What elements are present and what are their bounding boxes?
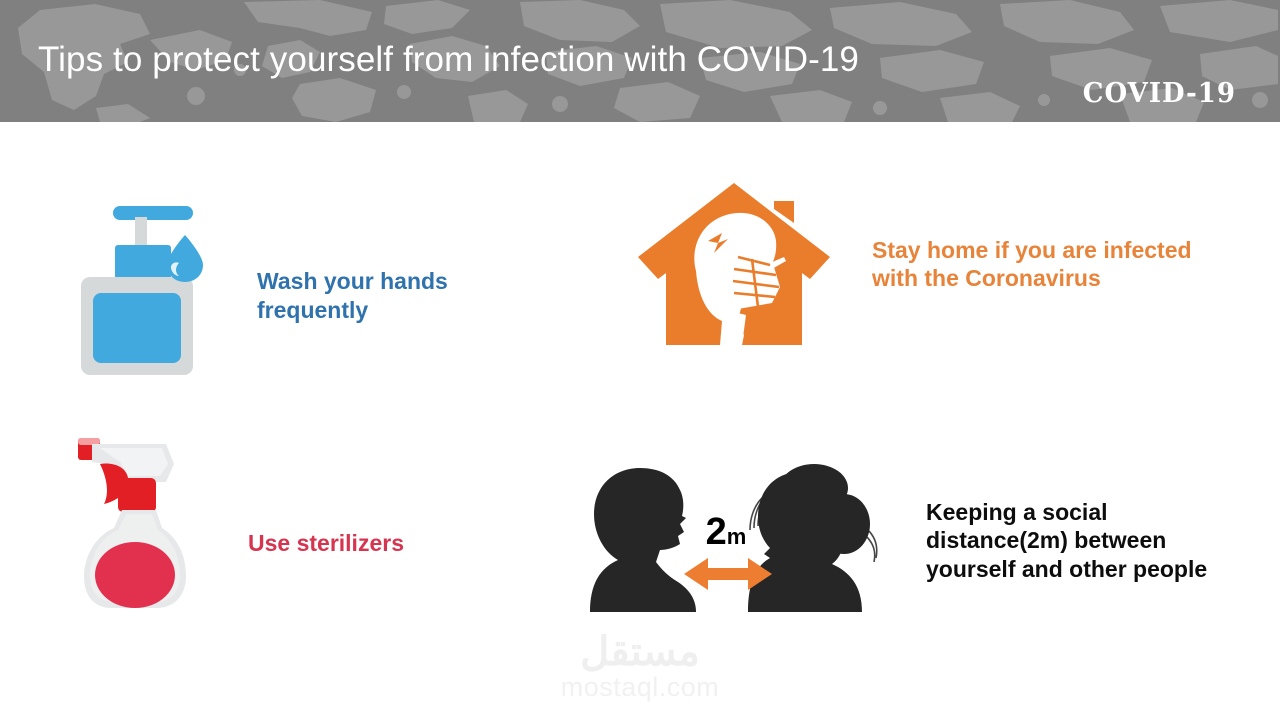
- page-title: Tips to protect yourself from infection …: [38, 38, 859, 82]
- tip-wash-hands-label: Wash your hands frequently: [257, 267, 448, 323]
- tip-use-sterilizers-label: Use sterilizers: [248, 529, 404, 557]
- header-banner: Tips to protect yourself from infection …: [0, 0, 1280, 122]
- covid-logo: COVID-19: [1083, 78, 1236, 110]
- tip-use-sterilizers: Use sterilizers: [70, 432, 530, 617]
- watermark-arabic: مستقل: [0, 632, 1280, 672]
- watermark-latin: mostaql.com: [0, 672, 1280, 702]
- female-silhouette: [748, 464, 870, 612]
- tip-social-distance-label: Keeping a social distance(2m) between yo…: [926, 498, 1207, 582]
- house-masked-person-icon: [634, 179, 834, 354]
- watermark: مستقل mostaql.com: [0, 632, 1280, 702]
- tip-wash-hands: Wash your hands frequently: [75, 195, 595, 380]
- tip-social-distance: 2m Keeping a social distance(2m) between…: [556, 462, 1276, 617]
- two-people-distance-icon: 2m: [556, 462, 896, 617]
- tip-stay-home-label: Stay home if you are infected with the C…: [872, 236, 1192, 292]
- distance-value: 2m: [706, 511, 747, 553]
- soap-dispenser-icon: [75, 193, 215, 383]
- male-silhouette: [590, 468, 696, 612]
- spray-bottle-icon: [70, 430, 210, 620]
- tip-stay-home: Stay home if you are infected with the C…: [634, 176, 1274, 356]
